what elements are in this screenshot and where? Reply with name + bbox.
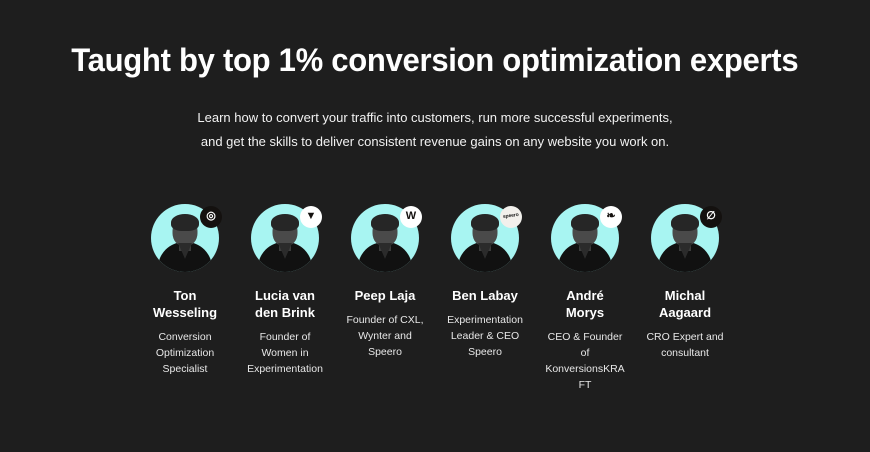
portrait-hair <box>471 214 499 231</box>
konversionskraft-swoosh-icon: ❧ <box>600 206 622 228</box>
portrait-hair <box>171 214 199 231</box>
expert-card-3[interactable]: W Peep Laja Founder of CXL, Wynter and S… <box>351 204 419 361</box>
expert-role: CEO & Founder of KonversionsKRAFT <box>545 329 625 394</box>
triangle-down-icon: ▼ <box>300 206 322 228</box>
portrait-hair <box>671 214 699 231</box>
expert-card-1[interactable]: ◎ Ton Wesseling Conversion Optimization … <box>151 204 219 378</box>
avatar-wrapper: speero <box>451 204 519 272</box>
speero-wordmark-icon: speero <box>500 206 522 228</box>
portrait-hair <box>271 214 299 231</box>
expert-name: André Morys <box>546 288 624 322</box>
avatar-wrapper: ◎ <box>151 204 219 272</box>
online-dialogue-circle-icon: ◎ <box>200 206 222 228</box>
subheading-line-2: and get the skills to deliver consistent… <box>197 130 672 154</box>
expert-name: Ton Wesseling <box>146 288 224 322</box>
experts-list: ◎ Ton Wesseling Conversion Optimization … <box>151 204 719 394</box>
portrait-hair <box>571 214 599 231</box>
expert-role: Founder of Women in Experimentation <box>245 329 325 378</box>
expert-role: Conversion Optimization Specialist <box>145 329 225 378</box>
expert-card-4[interactable]: speero Ben Labay Experimentation Leader … <box>451 204 519 361</box>
expert-name: Michal Aagaard <box>646 288 724 322</box>
avatar-wrapper: ▼ <box>251 204 319 272</box>
expert-name: Ben Labay <box>446 288 524 305</box>
expert-name: Peep Laja <box>346 288 424 305</box>
expert-role: CRO Expert and consultant <box>645 329 725 362</box>
portrait-hair <box>371 214 399 231</box>
expert-name: Lucia van den Brink <box>246 288 324 322</box>
expert-card-5[interactable]: ❧ André Morys CEO & Founder of Konversio… <box>551 204 619 394</box>
expert-card-6[interactable]: ∅ Michal Aagaard CRO Expert and consulta… <box>651 204 719 361</box>
avatar-wrapper: W <box>351 204 419 272</box>
wynter-w-icon: W <box>400 206 422 228</box>
page-title: Taught by top 1% conversion optimization… <box>71 42 798 80</box>
subheading-line-1: Learn how to convert your traffic into c… <box>197 106 672 130</box>
avatar-wrapper: ∅ <box>651 204 719 272</box>
expert-card-2[interactable]: ▼ Lucia van den Brink Founder of Women i… <box>251 204 319 378</box>
section-subheading: Learn how to convert your traffic into c… <box>197 106 672 154</box>
expert-role: Founder of CXL, Wynter and Speero <box>345 312 425 361</box>
slashed-circle-icon: ∅ <box>700 206 722 228</box>
avatar-wrapper: ❧ <box>551 204 619 272</box>
speero-wordmark-text: speero <box>503 213 519 220</box>
expert-role: Experimentation Leader & CEO Speero <box>445 312 525 361</box>
experts-section: Taught by top 1% conversion optimization… <box>0 0 870 452</box>
